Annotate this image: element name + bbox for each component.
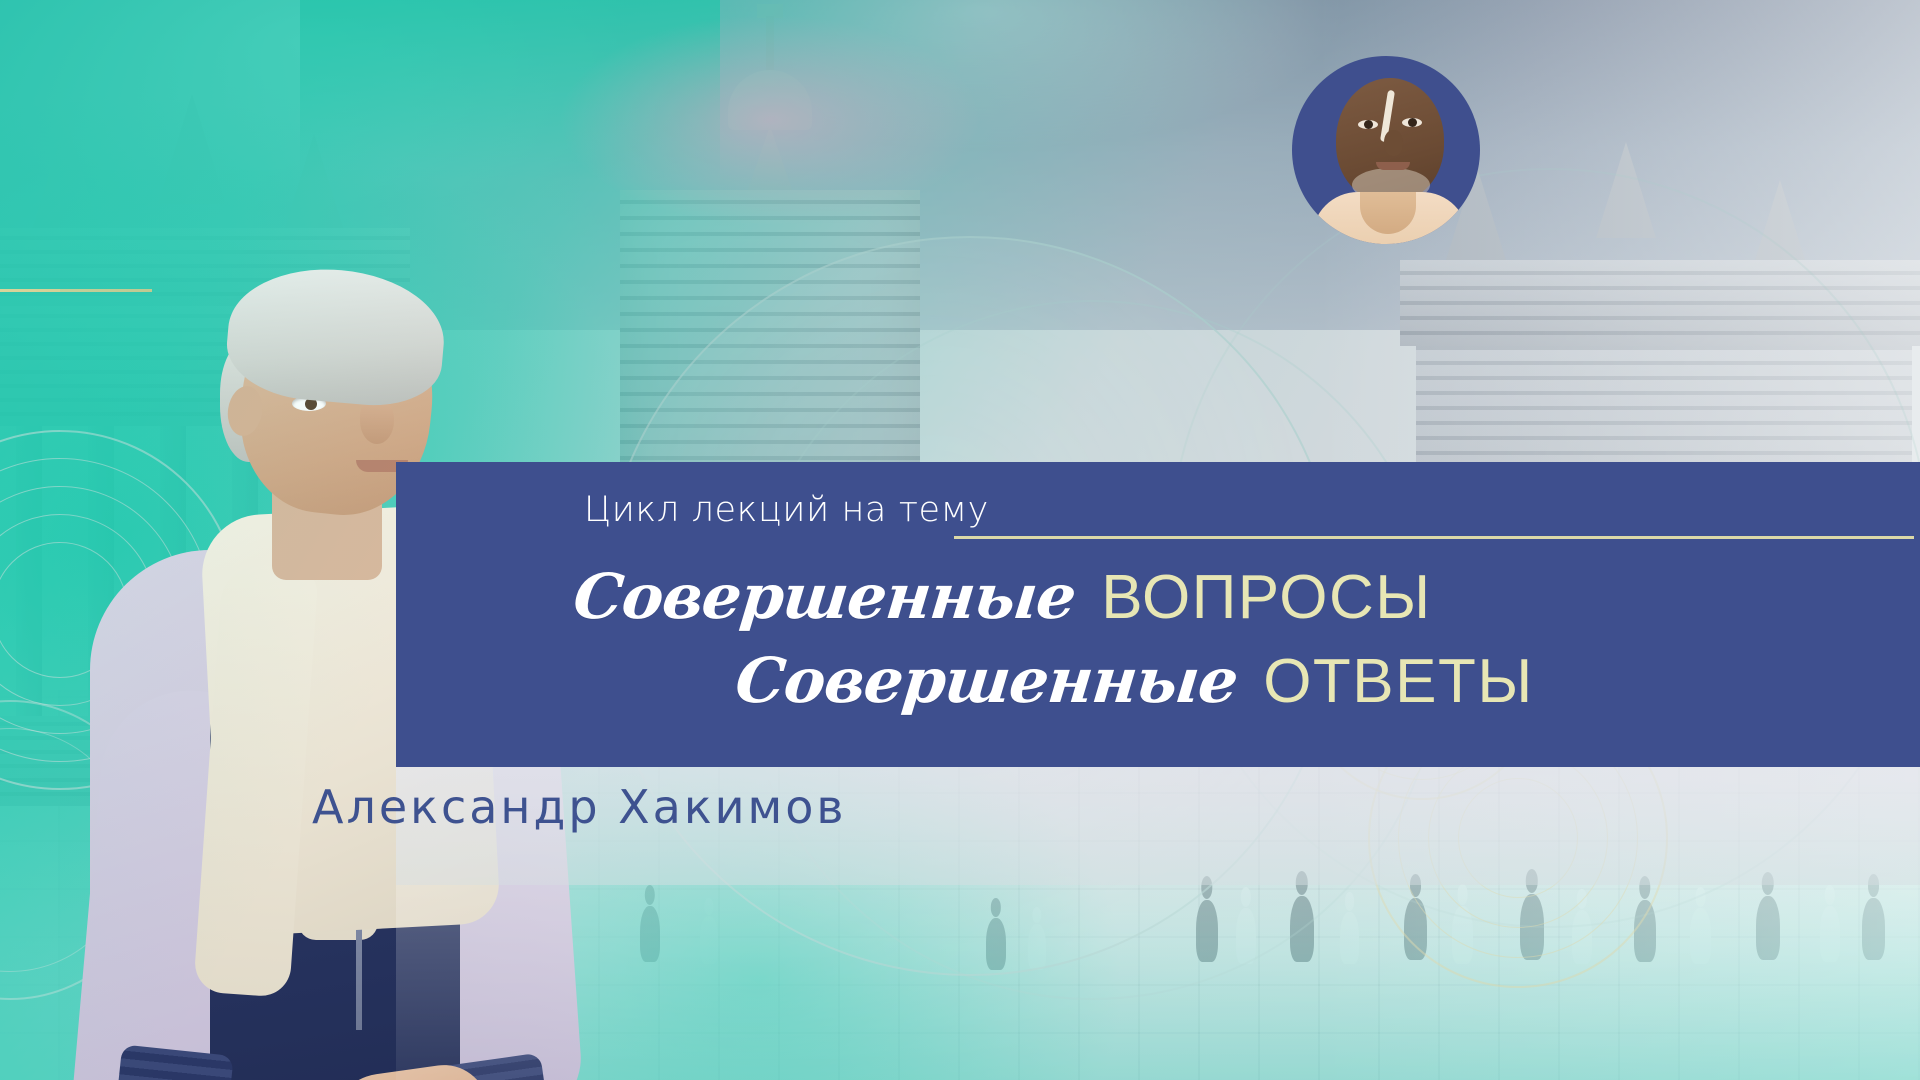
title-banner: Цикл лекций на тему Совершенные ВОПРОСЫ … [396, 462, 1920, 767]
title-divider-rule [954, 536, 1914, 539]
title-line-1-caps-word: ВОПРОСЫ [1101, 562, 1431, 633]
lead-text: Цикл лекций на тему [584, 490, 989, 530]
title-line-2: Совершенные ОТВЕТЫ [736, 644, 1534, 717]
lecture-series-poster: Цикл лекций на тему Совершенные ВОПРОСЫ … [0, 0, 1920, 1080]
title-line-1-script-word: Совершенные [570, 560, 1079, 633]
guru-portrait-icon [1292, 56, 1480, 244]
title-line-2-caps-word: ОТВЕТЫ [1263, 646, 1534, 717]
pink-glow-overlay [520, 0, 1080, 260]
title-line-2-script-word: Совершенные [732, 644, 1241, 717]
title-line-1: Совершенные ВОПРОСЫ [574, 560, 1432, 633]
speaker-name: Александр Хакимов [312, 780, 846, 834]
